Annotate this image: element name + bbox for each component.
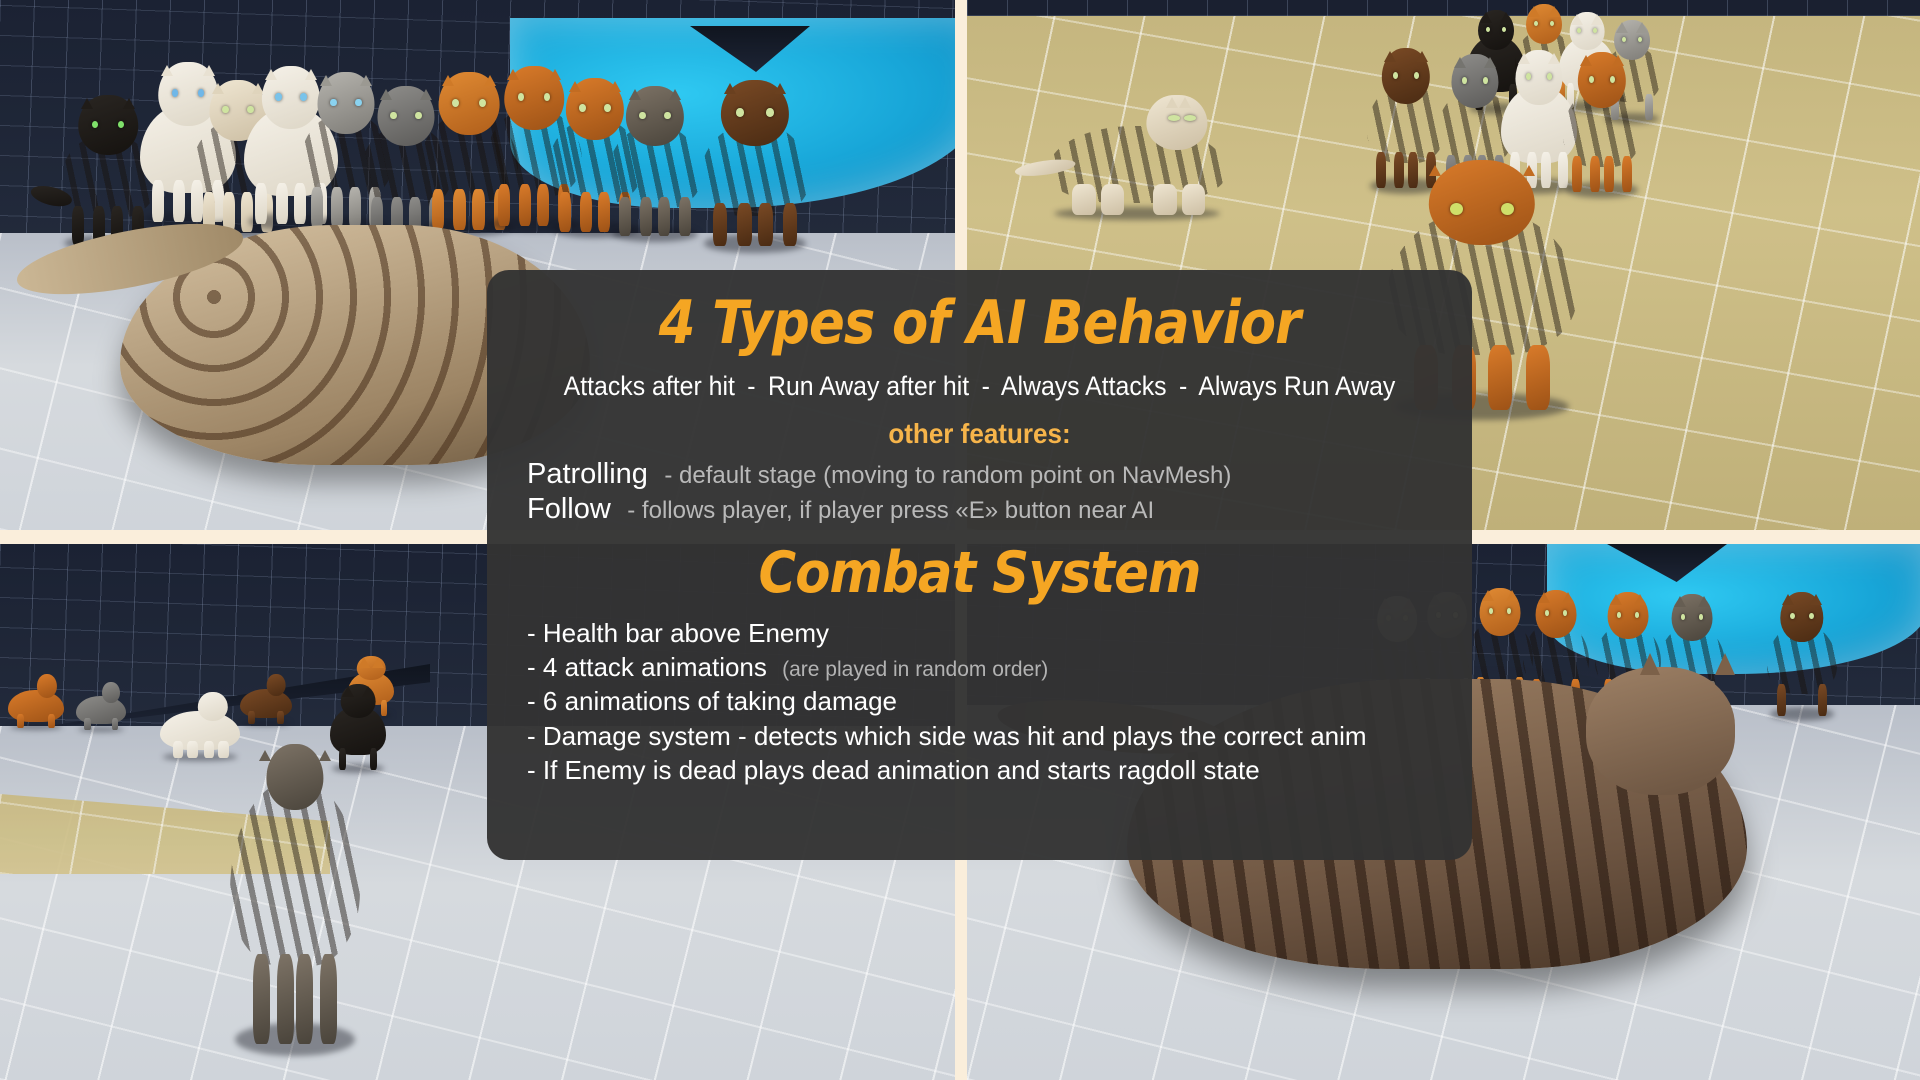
list-item: - Damage system - detects which side was… [527, 719, 1446, 753]
bullet-text: - 6 animations of taking damage [527, 686, 897, 716]
other-features-heading: other features: [546, 418, 1414, 450]
bullet-note [829, 624, 837, 647]
cat-character [1047, 95, 1227, 215]
behavior-item-0: Attacks after hit [564, 371, 735, 401]
combat-feature-list: - Health bar above Enemy - 4 attack anim… [513, 616, 1446, 788]
info-panel: 4 Types of AI Behavior Attacks after hit… [487, 270, 1472, 860]
feature-description: - follows player, if player press «E» bu… [615, 497, 1154, 524]
list-item: - Health bar above Enemy [527, 616, 1446, 650]
feature-row-follow: Follow - follows player, if player press… [513, 493, 1446, 526]
cat-character [160, 692, 240, 758]
screenshot-root: 4 Types of AI Behavior Attacks after hit… [0, 0, 1920, 1080]
bullet-note [1260, 761, 1268, 784]
bullet-text: - 4 attack animations [527, 652, 767, 682]
list-item: - If Enemy is dead plays dead animation … [527, 753, 1446, 787]
foreground-cat [230, 744, 360, 1044]
feature-row-patrolling: Patrolling - default stage (moving to ra… [513, 458, 1446, 491]
feature-description: - default stage (moving to random point … [652, 462, 1231, 489]
behavior-item-3: Always Run Away [1198, 371, 1395, 401]
combat-system-title: Combat System [560, 540, 1400, 606]
bullet-text: - Health bar above Enemy [527, 618, 829, 648]
bullet-text: - Damage system - detects which side was… [527, 721, 1367, 751]
cat-character [608, 86, 702, 236]
feature-name: Follow [527, 493, 611, 525]
bullet-note: (are played in random order) [774, 658, 1048, 681]
dark-wall [967, 0, 1920, 16]
bullet-text: - If Enemy is dead plays dead animation … [527, 755, 1260, 785]
behavior-separator: - [1173, 371, 1192, 401]
behavior-item-1: Run Away after hit [768, 371, 969, 401]
cat-character [76, 682, 126, 730]
list-item: - 6 animations of taking damage [527, 684, 1446, 718]
feature-name: Patrolling [527, 458, 648, 490]
list-item: - 4 attack animations (are played in ran… [527, 650, 1446, 684]
cat-character [1767, 592, 1837, 716]
bullet-note [897, 692, 905, 715]
cat-character [8, 674, 64, 728]
behavior-separator: - [976, 371, 995, 401]
page-title: 4 Types of AI Behavior [569, 288, 1390, 359]
cat-character [240, 674, 292, 724]
behavior-item-2: Always Attacks [1001, 371, 1167, 401]
bullet-note [1367, 727, 1375, 750]
cat-character [700, 80, 810, 246]
behavior-separator: - [742, 371, 761, 401]
behavior-list: Attacks after hit - Run Away after hit -… [550, 371, 1408, 402]
